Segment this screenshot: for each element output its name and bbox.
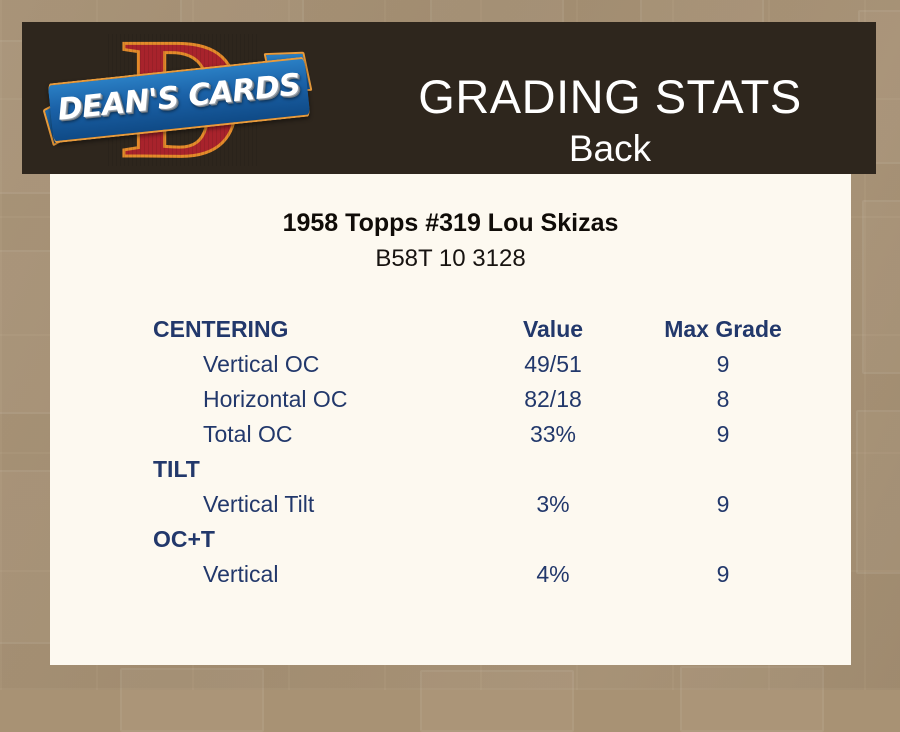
row-max-grade: 9 — [623, 487, 823, 522]
table-row: Vertical Tilt 3% 9 — [50, 487, 851, 522]
table-row: Vertical OC 49/51 9 — [50, 347, 851, 382]
background-card-texture — [420, 670, 574, 732]
background-card-texture — [120, 668, 264, 732]
header-bar: D DEAN'S CARDS GRADING STATS Back — [22, 22, 876, 174]
row-label: Vertical — [203, 557, 278, 592]
page-subtitle: Back — [569, 127, 651, 171]
table-row: Horizontal OC 82/18 8 — [50, 382, 851, 417]
row-max-grade: 8 — [623, 382, 823, 417]
row-label: Total OC — [203, 417, 292, 452]
background-card-texture — [856, 410, 900, 574]
row-label: Vertical OC — [203, 347, 319, 382]
row-label: Vertical Tilt — [203, 487, 314, 522]
card-subtitle: B58T 10 3128 — [50, 245, 851, 273]
section-heading-tilt: TILT — [153, 452, 200, 487]
content-panel: 1958 Topps #319 Lou Skizas B58T 10 3128 … — [50, 174, 851, 665]
row-max-grade: 9 — [623, 417, 823, 452]
table-row: Total OC 33% 9 — [50, 417, 851, 452]
background-card-texture — [680, 666, 824, 732]
deans-cards-logo[interactable]: D DEAN'S CARDS — [50, 26, 308, 172]
table-header-row: CENTERING Value Max Grade — [50, 312, 851, 347]
row-label: Horizontal OC — [203, 382, 347, 417]
page-title: GRADING STATS — [418, 69, 801, 125]
background-card-texture — [862, 200, 900, 374]
table-row: Vertical 4% 9 — [50, 557, 851, 592]
column-header-max-grade: Max Grade — [623, 312, 823, 347]
grading-stats-table: CENTERING Value Max Grade Vertical OC 49… — [50, 312, 851, 592]
grading-stats-page: D DEAN'S CARDS GRADING STATS Back 1958 T… — [0, 0, 900, 690]
row-max-grade: 9 — [623, 557, 823, 592]
section-header-oct: OC+T — [50, 522, 851, 557]
section-heading-oct: OC+T — [153, 522, 215, 557]
section-header-tilt: TILT — [50, 452, 851, 487]
section-heading-centering: CENTERING — [153, 312, 288, 347]
row-max-grade: 9 — [623, 347, 823, 382]
card-title: 1958 Topps #319 Lou Skizas — [50, 209, 851, 238]
